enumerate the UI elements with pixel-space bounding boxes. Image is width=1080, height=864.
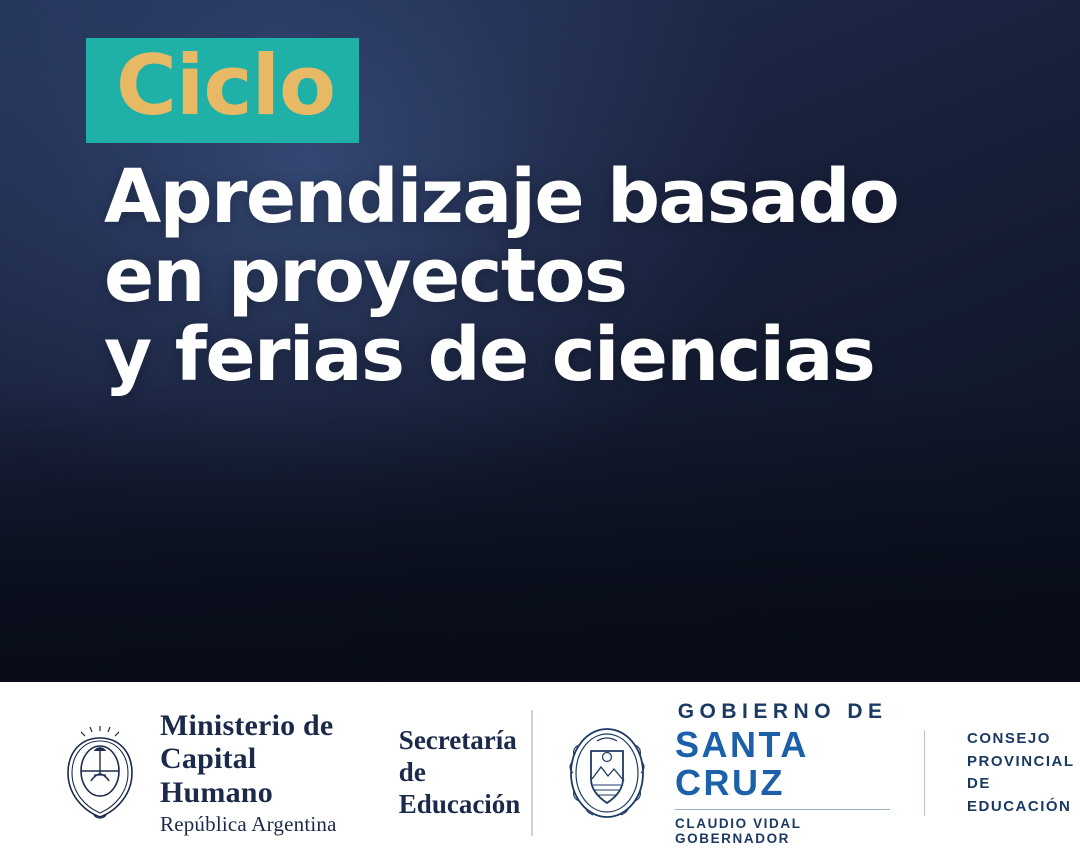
santa-cruz-text-block: GOBIERNO DE SANTA CRUZ CLAUDIO VIDAL GOB… bbox=[675, 700, 890, 847]
page-title-line-3: y ferias de ciencias bbox=[104, 316, 898, 395]
argentina-logo-group: Ministerio de Capital Humano República A… bbox=[0, 682, 531, 864]
santa-cruz-rule bbox=[675, 809, 890, 810]
gobierno-de-label: GOBIERNO DE bbox=[678, 700, 888, 724]
secretaria-line-2: de Educación bbox=[399, 757, 531, 821]
ciclo-badge-label: Ciclo bbox=[116, 44, 335, 127]
ministerio-line-3: República Argentina bbox=[160, 812, 345, 837]
consejo-line-1: CONSEJO bbox=[967, 728, 1080, 751]
footer-logo-bar: Ministerio de Capital Humano República A… bbox=[0, 682, 1080, 864]
argentina-coat-of-arms-icon bbox=[58, 725, 142, 821]
consejo-line-3: DE EDUCACIÓN bbox=[967, 773, 1080, 818]
consejo-provincial-text: CONSEJO PROVINCIAL DE EDUCACIÓN bbox=[967, 728, 1080, 818]
santa-cruz-divider bbox=[924, 730, 925, 816]
consejo-line-2: PROVINCIAL bbox=[967, 751, 1080, 774]
secretaria-educacion-text: Secretaría de Educación bbox=[399, 725, 531, 821]
slide-root: Ciclo Aprendizaje basado en proyectos y … bbox=[0, 0, 1080, 864]
santa-cruz-label: SANTA CRUZ bbox=[675, 726, 890, 802]
hero-bottom-shade bbox=[0, 382, 1080, 682]
page-title-line-2: en proyectos bbox=[104, 237, 898, 316]
ministerio-text-block: Ministerio de Capital Humano República A… bbox=[160, 709, 345, 838]
ministerio-line-2: Capital Humano bbox=[160, 742, 345, 809]
ministerio-line-1: Ministerio de bbox=[160, 709, 345, 743]
page-title-line-1: Aprendizaje basado bbox=[104, 158, 898, 237]
secretaria-line-1: Secretaría bbox=[399, 725, 531, 757]
governor-label: CLAUDIO VIDAL GOBERNADOR bbox=[675, 816, 890, 846]
santa-cruz-logo-group: GOBIERNO DE SANTA CRUZ CLAUDIO VIDAL GOB… bbox=[533, 682, 1080, 864]
ciclo-badge: Ciclo bbox=[86, 38, 359, 143]
santa-cruz-coat-of-arms-icon bbox=[559, 721, 655, 825]
page-title: Aprendizaje basado en proyectos y ferias… bbox=[104, 158, 898, 396]
